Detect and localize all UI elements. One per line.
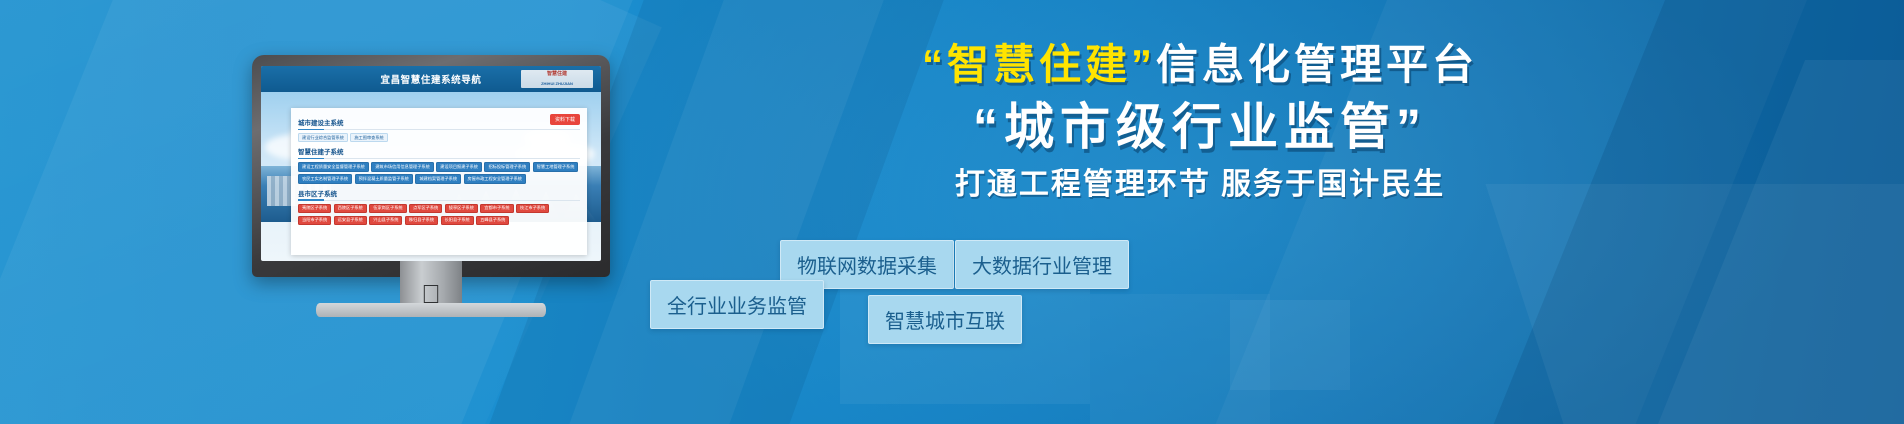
screen-chip[interactable]: 建筑市场信用信息管理子系统 [371, 162, 433, 171]
headline-line-1: “智慧住建”信息化管理平台 [650, 44, 1750, 86]
promo-banner: 宜昌智慧住建系统导航 智慧住建 ZHIHUI ZHUJIAN 资料下载 城市建设… [0, 0, 1904, 424]
screen-section-title: 智慧住建子系统 [298, 146, 580, 159]
screen-chip[interactable]: 建设工程质量安全监督管理子系统 [298, 162, 369, 171]
screen-section-chips: 建设行业综合监管系统 施工图审查系统 [298, 133, 580, 142]
screen-chip[interactable]: 长阳县子系统 [441, 216, 474, 225]
screen-logo-line2: ZHIHUI ZHUJIAN [521, 79, 593, 88]
background-shape-8 [1486, 184, 1904, 424]
headline-line-2: “城市级行业监管” [650, 102, 1750, 152]
screen-chip[interactable]: 预拌混凝土质量监管子系统 [355, 174, 413, 183]
screen-section-chips: 建设工程质量安全监督管理子系统 建筑市场信用信息管理子系统 建设项目报建子系统 … [298, 162, 580, 183]
screen-chip[interactable]: 兴山县子系统 [369, 216, 402, 225]
screen-chip[interactable]: 枝江市子系统 [516, 204, 549, 213]
screen-section-chips: 夷陵区子系统 西陵区子系统 伍家岗区子系统 点军区子系统 猇亭区子系统 宜都市子… [298, 204, 580, 225]
screen-logo-line1: 智慧住建 [521, 70, 593, 79]
monitor-stand-base [316, 303, 546, 317]
screen-chip[interactable]: 伍家岗区子系统 [369, 204, 406, 213]
screen-section-title: 县市区子系统 [298, 188, 580, 201]
background-block-2 [1090, 294, 1270, 424]
monitor-screen: 宜昌智慧住建系统导航 智慧住建 ZHIHUI ZHUJIAN 资料下载 城市建设… [261, 66, 601, 261]
screen-chip[interactable]: 招标投标管理子系统 [484, 162, 530, 171]
feature-tag-all-industry-supervision[interactable]: 全行业业务监管 [650, 280, 824, 329]
background-block-3 [1230, 300, 1350, 390]
screen-chip[interactable]: 城建档案管理子系统 [415, 174, 461, 183]
screen-logo: 智慧住建 ZHIHUI ZHUJIAN [521, 70, 593, 88]
screen-chip[interactable]: 秭归县子系统 [405, 216, 438, 225]
screen-chip[interactable]: 智慧工地管理子系统 [533, 162, 579, 171]
screen-chip[interactable]: 建设项目报建子系统 [436, 162, 482, 171]
feature-tag-bigdata-industry-management[interactable]: 大数据行业管理 [955, 240, 1129, 289]
background-left-wash [0, 0, 230, 424]
monitor-illustration: 宜昌智慧住建系统导航 智慧住建 ZHIHUI ZHUJIAN 资料下载 城市建设… [252, 55, 610, 305]
screen-header-bar: 宜昌智慧住建系统导航 智慧住建 ZHIHUI ZHUJIAN [261, 66, 601, 92]
headline-block: “智慧住建”信息化管理平台 “城市级行业监管” 打通工程管理环节 服务于国计民生 [650, 44, 1750, 200]
headline-line-3: 打通工程管理环节 服务于国计民生 [650, 170, 1750, 200]
screen-chip[interactable]: 五峰县子系统 [476, 216, 509, 225]
headline-line-1-rest: 信息化管理平台 [1156, 41, 1478, 88]
monitor-bezel: 宜昌智慧住建系统导航 智慧住建 ZHIHUI ZHUJIAN 资料下载 城市建设… [252, 55, 610, 277]
screen-chip[interactable]: 远安县子系统 [334, 216, 367, 225]
screen-chip[interactable]: 猇亭区子系统 [445, 204, 478, 213]
headline-line-1-highlight: “智慧住建” [922, 41, 1156, 88]
screen-chip[interactable]: 当阳市子系统 [298, 216, 331, 225]
screen-nav-panel: 资料下载 城市建设主系统 建设行业综合监管系统 施工图审查系统 智慧住建子系统 … [291, 108, 587, 255]
screen-section-title: 城市建设主系统 [298, 117, 580, 130]
screen-chip[interactable]: 施工图审查系统 [350, 133, 387, 142]
screen-chip[interactable]: 点军区子系统 [409, 204, 442, 213]
screen-chip[interactable]: 建设行业综合监管系统 [298, 133, 348, 142]
feature-tag-smart-city-interconnect[interactable]: 智慧城市互联 [868, 295, 1022, 344]
screen-chip[interactable]: 西陵区子系统 [334, 204, 367, 213]
screen-chip[interactable]: 夷陵区子系统 [298, 204, 331, 213]
screen-chip[interactable]: 宜都市子系统 [480, 204, 513, 213]
screen-chip[interactable]: 房屋市政工程安全管理子系统 [464, 174, 526, 183]
screen-chip[interactable]: 农民工实名制管理子系统 [298, 174, 352, 183]
